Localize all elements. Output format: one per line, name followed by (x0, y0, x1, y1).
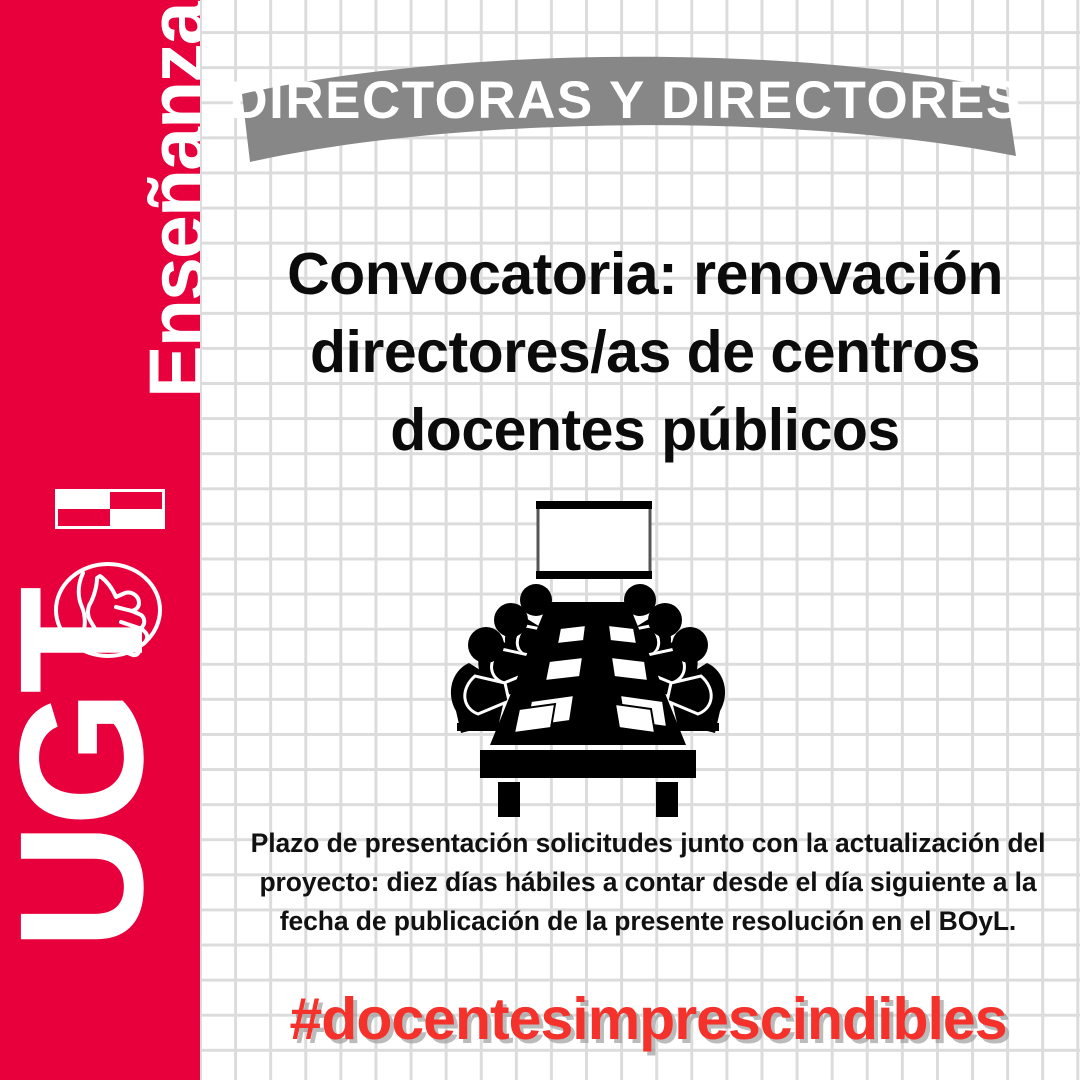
ensenanza-lockup: Enseñanza Servicios Públicos Castilla y … (52, 18, 200, 398)
boardroom-meeting-icon (443, 495, 733, 820)
emblem-quadrant-bottom-left (58, 509, 110, 526)
body-paragraph: Plazo de presentación solicitudes junto … (228, 824, 1068, 942)
poster-canvas: Enseñanza Servicios Públicos Castilla y … (0, 0, 1080, 1080)
castilla-y-leon-checkered-emblem (55, 489, 165, 529)
campaign-hashtag: #docentesimprescindibles (228, 985, 1068, 1053)
ugt-wordmark: UGT (2, 570, 162, 970)
page-title: Convocatoria: renovación directores/as d… (230, 236, 1060, 470)
brand-sidebar: Enseñanza Servicios Públicos Castilla y … (0, 0, 200, 1080)
ensenanza-wordmark: Enseñanza (142, 3, 200, 398)
ugt-letters: UGT (0, 590, 170, 950)
emblem-quadrant-bottom-right (110, 509, 162, 526)
banner-ribbon: DIRECTORAS Y DIRECTORES (236, 38, 1016, 170)
emblem-quadrant-top-left (58, 492, 110, 509)
emblem-quadrant-top-right (110, 492, 162, 509)
banner-title: DIRECTORAS Y DIRECTORES (236, 38, 1016, 170)
whiteboard-shape (536, 501, 652, 579)
